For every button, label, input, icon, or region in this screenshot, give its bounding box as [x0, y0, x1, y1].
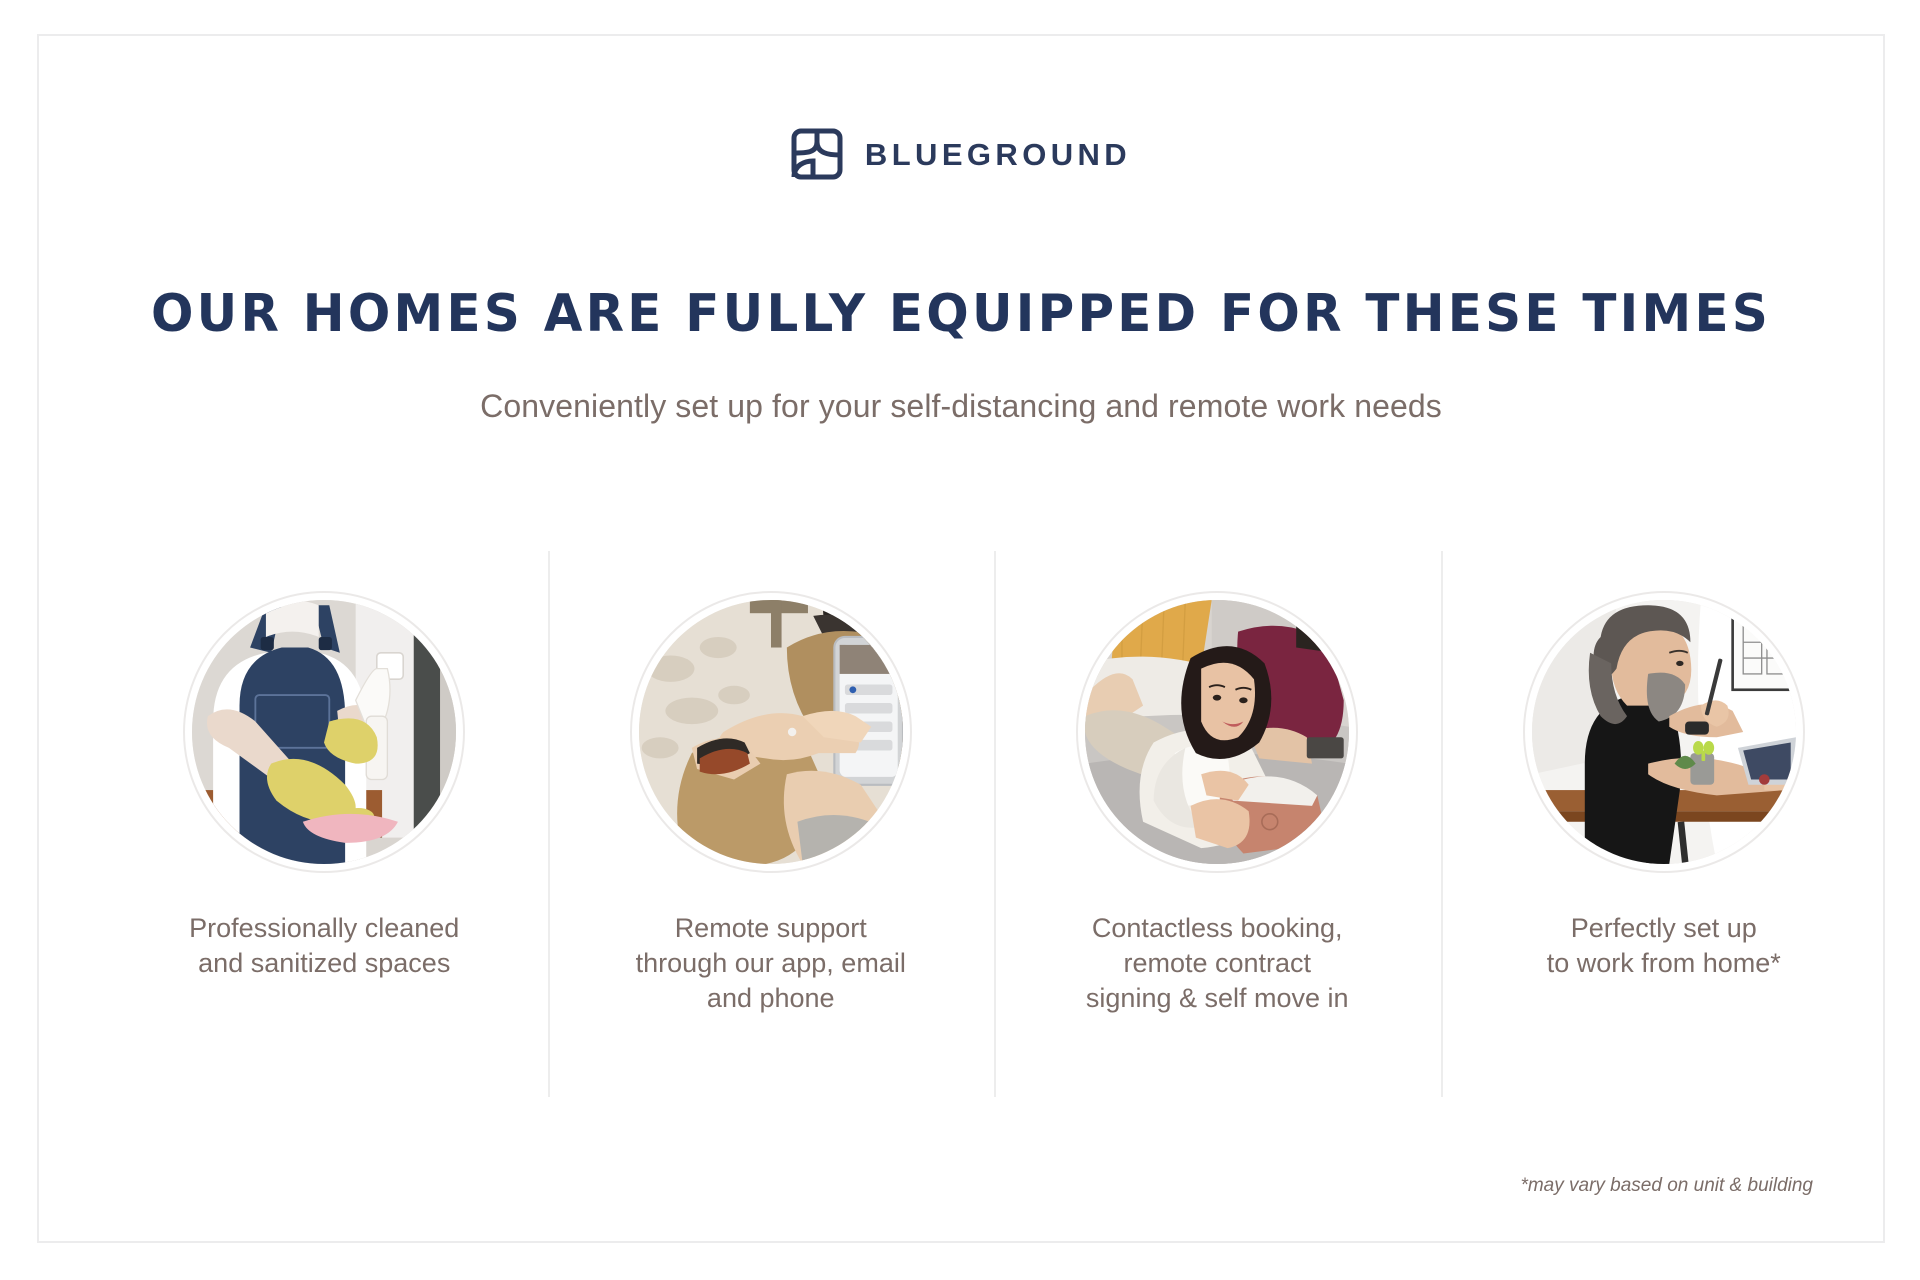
brand-wordmark: BLUEGROUND	[865, 139, 1131, 170]
content-card: BLUEGROUND OUR HOMES ARE FULLY EQUIPPED …	[37, 34, 1885, 1243]
feature-item-contactless-booking: Contactless booking, remote contract sig…	[994, 551, 1441, 1097]
photo-ring	[630, 591, 912, 873]
feature-caption: Contactless booking, remote contract sig…	[1086, 911, 1349, 1016]
feature-caption: Professionally cleaned and sanitized spa…	[189, 911, 459, 981]
photo-ring	[1076, 591, 1358, 873]
feature-item-work-from-home: Perfectly set up to work from home*	[1441, 551, 1888, 1097]
photo-ring	[183, 591, 465, 873]
feature-caption: Perfectly set up to work from home*	[1547, 911, 1781, 981]
poster-canvas: BLUEGROUND OUR HOMES ARE FULLY EQUIPPED …	[0, 0, 1920, 1280]
blueground-square-icon	[791, 128, 843, 180]
page-subtitle: Conveniently set up for your self-distan…	[39, 388, 1883, 425]
feature-item-remote-support: Remote support through our app, email an…	[548, 551, 995, 1097]
brand-logo[interactable]: BLUEGROUND	[39, 128, 1883, 180]
photo-work-from-home	[1532, 600, 1796, 864]
photo-tablet-booking	[1085, 600, 1349, 864]
feature-item-cleaning: Professionally cleaned and sanitized spa…	[101, 551, 548, 1097]
photo-phone-support	[639, 600, 903, 864]
feature-list: Professionally cleaned and sanitized spa…	[101, 551, 1887, 1097]
photo-ring	[1523, 591, 1805, 873]
footnote-disclaimer: *may vary based on unit & building	[1520, 1175, 1813, 1197]
feature-caption: Remote support through our app, email an…	[636, 911, 906, 1016]
page-title: OUR HOMES ARE FULLY EQUIPPED FOR THESE T…	[76, 284, 1846, 344]
photo-cleaning-gloves	[192, 600, 456, 864]
